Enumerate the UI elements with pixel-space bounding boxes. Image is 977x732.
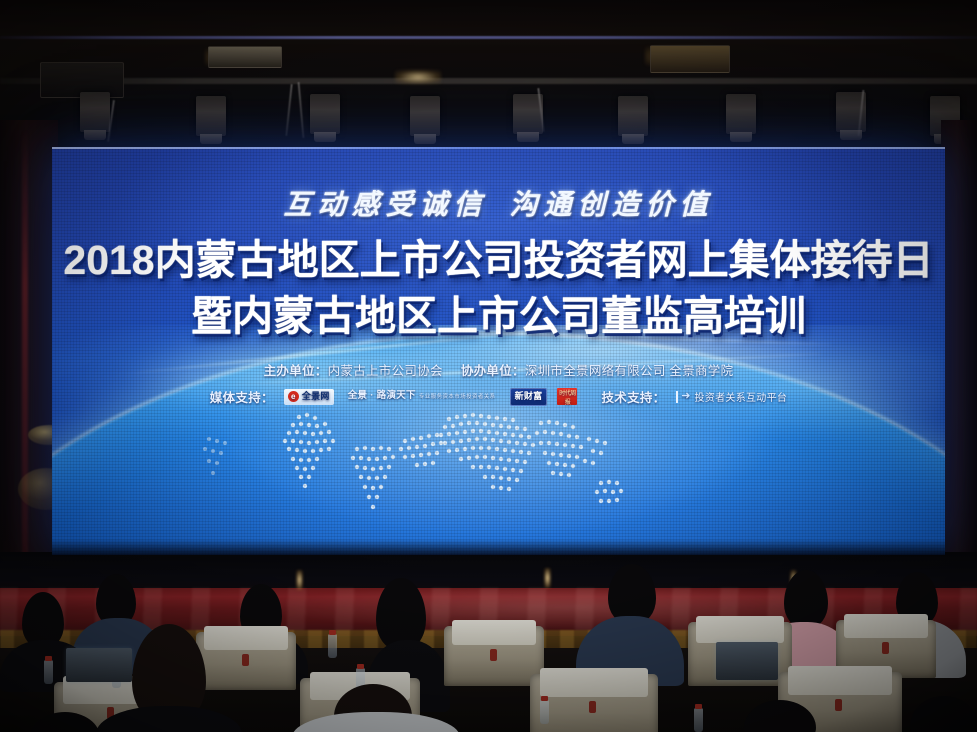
slogan-left: 互动感受诚信 xyxy=(283,190,487,221)
audience-chair-4 xyxy=(196,632,296,690)
chair-tie xyxy=(242,654,249,666)
audience-area xyxy=(0,556,977,732)
chair-cover xyxy=(452,620,536,645)
lighting-cable-2 xyxy=(298,82,305,138)
bottle-cap xyxy=(695,704,702,709)
stage-speaker-box-center xyxy=(650,45,730,73)
bottle-cap xyxy=(357,664,364,669)
stage-lamp-3 xyxy=(310,94,340,134)
water-bottle-6 xyxy=(694,708,703,732)
audience-head-b4 xyxy=(608,564,656,624)
logo-shidaizhoubao-name: 时代周报 xyxy=(557,388,577,406)
chair-tie xyxy=(490,649,497,661)
stage-lamp-2 xyxy=(196,96,226,136)
chair-cover xyxy=(696,616,783,643)
ir-bar-icon xyxy=(676,391,678,403)
audience-chair-1 xyxy=(444,626,544,686)
media-support-label: 媒体支持： xyxy=(210,387,274,406)
stage-speaker-box-right xyxy=(208,46,282,68)
bottle-cap xyxy=(329,630,336,635)
stage-lamp-1 xyxy=(80,92,110,132)
attendee-laptop-1 xyxy=(66,648,132,682)
support-row: 媒体支持： e 全景网 全景 · 路演天下 专业服务资本市场投资者关系 新财富 … xyxy=(52,387,945,406)
stage-lamp-4 xyxy=(410,96,440,136)
tech-support-value: 投资者关系互动平台 xyxy=(695,389,788,404)
logo-ir-platform: ➜ 投资者关系互动平台 xyxy=(676,389,788,404)
credits-block: 主办单位：内蒙古上市公司协会 协办单位：深圳市全景网络有限公司 全景商学院 媒体… xyxy=(52,360,945,406)
water-bottle-3 xyxy=(328,634,337,658)
stage-lamp-7 xyxy=(726,94,756,134)
organizer-label: 主办单位： xyxy=(264,364,328,378)
organizer-entry: 主办单位：内蒙古上市公司协会 xyxy=(264,360,443,379)
coorganizer-entry: 协办单位：深圳市全景网络有限公司 全景商学院 xyxy=(461,360,734,379)
organizer-row: 主办单位：内蒙古上市公司协会 协办单位：深圳市全景网络有限公司 全景商学院 xyxy=(52,360,945,379)
chair-tie xyxy=(589,701,596,713)
slogan-calligraphy: 互动感受诚信沟通创造价值 xyxy=(52,183,945,223)
bottle-cap xyxy=(45,656,52,661)
audience-chair-6 xyxy=(530,674,658,732)
organizer-value: 内蒙古上市公司协会 xyxy=(328,364,443,378)
hall-wall-right xyxy=(941,120,977,590)
logo-quanjingwang-name: 全景网 xyxy=(302,392,330,401)
logo-shidaizhoubao: 时代周报 xyxy=(557,388,577,405)
truss-beam-lower xyxy=(0,78,977,84)
logo-luyantianxia-sub: 专业服务资本市场投资者关系 xyxy=(419,394,496,400)
tech-support-label: 技术支持： xyxy=(601,387,665,406)
lighting-cable-1 xyxy=(285,84,292,136)
screen-bottom-shadow xyxy=(52,539,945,555)
coorganizer-value: 深圳市全景网络有限公司 全景商学院 xyxy=(525,364,734,378)
logo-quanjingwang: e 全景网 xyxy=(284,389,334,405)
event-title-line2: 暨内蒙古地区上市公司董监高培训 xyxy=(52,291,945,343)
logo-luyantianxia-name: 全景 · 路演天下 xyxy=(348,391,416,402)
screen-content: 互动感受诚信沟通创造价值 2018内蒙古地区上市公司投资者网上集体接待日 暨内蒙… xyxy=(52,147,945,414)
conference-photo-scene: 互动感受诚信沟通创造价值 2018内蒙古地区上市公司投资者网上集体接待日 暨内蒙… xyxy=(0,0,977,732)
event-title-line1: 2018内蒙古地区上市公司投资者网上集体接待日 xyxy=(52,235,945,287)
stage-lamp-glow-4 xyxy=(395,70,441,84)
bottle-cap xyxy=(541,696,548,701)
world-map-dots xyxy=(149,391,849,555)
logo-luyantianxia: 全景 · 路演天下 专业服务资本市场投资者关系 xyxy=(344,389,500,405)
led-display-screen: 互动感受诚信沟通创造价值 2018内蒙古地区上市公司投资者网上集体接待日 暨内蒙… xyxy=(52,147,945,555)
slogan-right: 沟通创造价值 xyxy=(510,190,714,221)
chair-cover xyxy=(204,626,288,650)
chair-cover xyxy=(788,666,892,695)
chair-tie xyxy=(835,699,842,711)
attendee-laptop-2 xyxy=(716,642,778,680)
water-bottle-1 xyxy=(44,660,53,684)
ir-swirl-icon: ➜ xyxy=(681,391,692,402)
audience-head-b5 xyxy=(784,570,828,628)
stage-lamp-6 xyxy=(618,96,648,136)
chair-cover xyxy=(540,668,648,697)
logo-xincaifu: 新财富 xyxy=(510,388,548,406)
coorganizer-label: 协办单位： xyxy=(461,364,525,378)
water-bottle-5 xyxy=(540,700,549,724)
hall-wall-left xyxy=(0,120,58,590)
audience-head-f5 xyxy=(910,696,977,732)
stage-ceiling-truss xyxy=(0,0,977,150)
chair-cover xyxy=(844,614,928,638)
chair-tie xyxy=(882,642,889,654)
logo-xincaifu-name: 新财富 xyxy=(515,392,543,401)
truss-beam-upper xyxy=(0,36,977,39)
quanjing-mark-icon: e xyxy=(288,391,299,402)
